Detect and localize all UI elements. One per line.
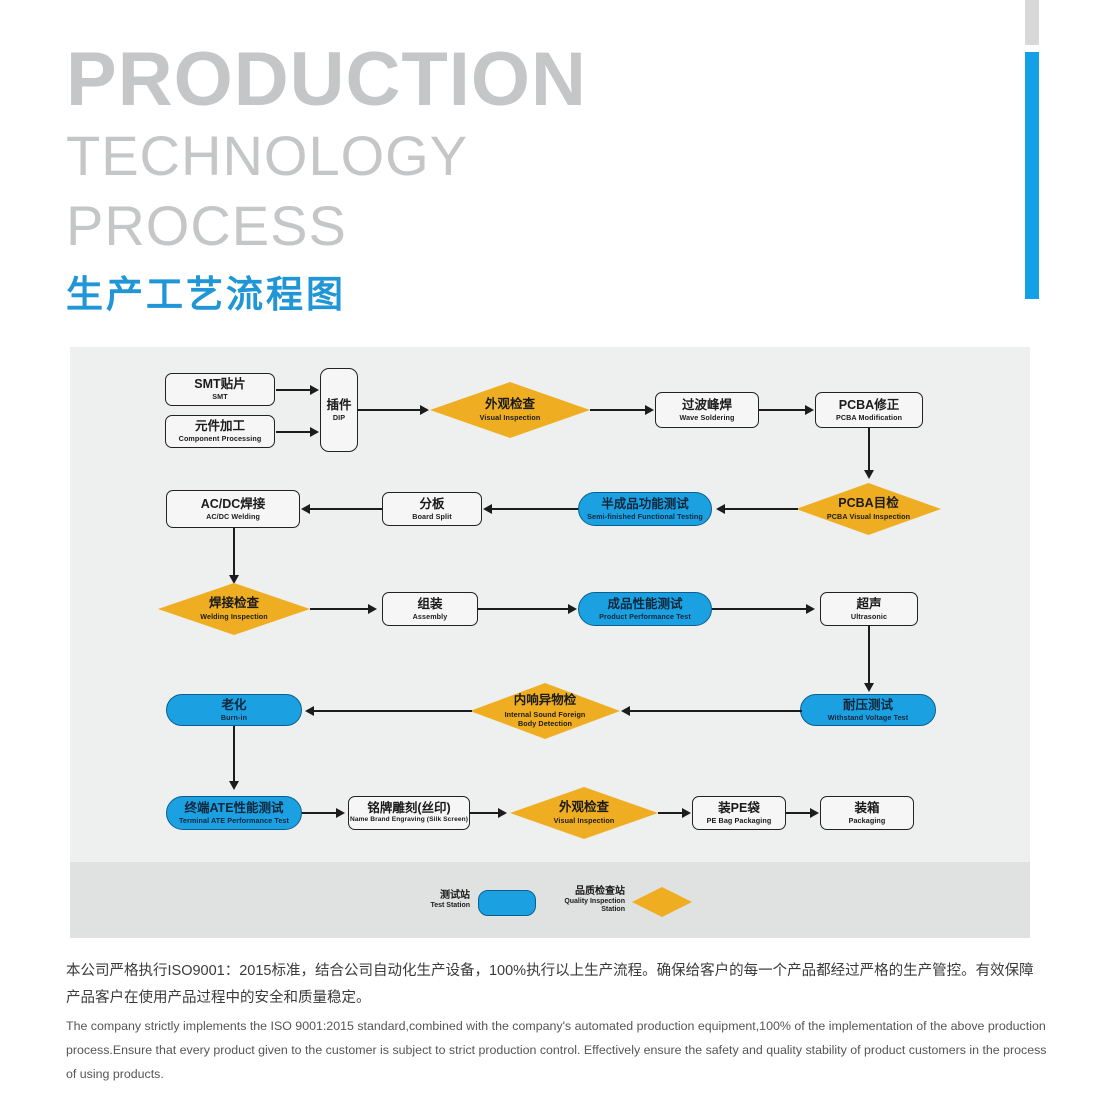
legend-label-en2: Station <box>525 906 625 914</box>
flow-node-product-performance-test[interactable]: 成品性能测试 Product Performance Test <box>578 592 712 626</box>
arrowhead <box>716 504 725 514</box>
arrowhead <box>310 427 319 437</box>
node-label-cn: 插件 <box>326 399 351 412</box>
legend-label-en: Test Station <box>395 902 470 910</box>
accent-bar-gray <box>1025 0 1039 45</box>
node-label-cn: 元件加工 <box>195 420 245 433</box>
node-label-en: Burn-in <box>221 714 247 722</box>
node-label-cn: 外观检查 <box>485 398 535 411</box>
flow-node-smt[interactable]: SMT贴片 SMT <box>165 373 275 406</box>
arrowhead <box>645 405 654 415</box>
arrowhead <box>420 405 429 415</box>
title-technology: TECHNOLOGY <box>66 128 468 184</box>
arrowhead <box>483 504 492 514</box>
node-label-en: Terminal ATE Performance Test <box>179 817 289 825</box>
node-label-cn: 分板 <box>419 498 444 511</box>
legend-label-quality-inspection-station: 品质检查站 Quality Inspection Station <box>525 886 625 914</box>
node-label-cn: AC/DC焊接 <box>201 498 266 511</box>
connector-pcbamod-pcbavis <box>868 428 870 473</box>
arrowhead <box>806 604 815 614</box>
arrowhead <box>864 683 874 692</box>
arrowhead <box>229 575 239 584</box>
connector-ultrasonic-withstand <box>868 626 870 686</box>
page-header: PRODUCTION TECHNOLOGY PROCESS 生产工艺流程图 <box>0 0 1100 340</box>
node-label-en2: Body Detection <box>518 719 572 728</box>
node-label-en: Visual Inspection <box>554 816 615 825</box>
node-label-cn: 终端ATE性能测试 <box>184 802 283 815</box>
node-label-cn: 焊接检查 <box>209 597 259 610</box>
arrowhead <box>805 405 814 415</box>
flow-node-assembly[interactable]: 组装 Assembly <box>382 592 478 626</box>
arrowhead <box>682 808 691 818</box>
node-label-en: Wave Soldering <box>679 414 734 422</box>
node-label-cn: 耐压测试 <box>843 699 893 712</box>
connector-visual1-wave <box>590 409 650 411</box>
arrowhead <box>498 808 507 818</box>
node-label-en: Product Performance Test <box>599 613 691 621</box>
flow-node-board-split[interactable]: 分板 Board Split <box>382 492 482 526</box>
legend-label-en1: Quality Inspection <box>525 898 625 906</box>
flow-node-withstand-voltage-test[interactable]: 耐压测试 Withstand Voltage Test <box>800 694 936 726</box>
node-label-en: Assembly <box>413 613 448 621</box>
node-label-en: Name Brand Engraving (Silk Screen) <box>350 817 468 824</box>
connector-boardsplit-acdc <box>308 508 382 510</box>
node-label-en: Internal Sound Foreign <box>505 710 586 719</box>
node-label-en: PE Bag Packaging <box>707 817 772 825</box>
flow-node-terminal-ate-performance-test[interactable]: 终端ATE性能测试 Terminal ATE Performance Test <box>166 796 302 830</box>
node-label-en: DIP <box>333 414 345 422</box>
flow-node-dip[interactable]: 插件 DIP <box>320 368 358 452</box>
flow-node-component-processing[interactable]: 元件加工 Component Processing <box>165 415 275 448</box>
flow-node-wave-soldering[interactable]: 过波峰焊 Wave Soldering <box>655 392 759 428</box>
legend-label-cn: 品质检查站 <box>525 886 625 898</box>
node-label-cn: 成品性能测试 <box>607 598 682 611</box>
node-label-en: Visual Inspection <box>480 413 541 422</box>
legend-label-test-station: 测试站 Test Station <box>395 890 470 910</box>
arrowhead <box>301 504 310 514</box>
connector-weldinsp-assembly <box>310 608 372 610</box>
flow-node-semi-finished-functional-testing[interactable]: 半成品功能测试 Semi-finished Functional Testing <box>578 492 712 526</box>
node-label-en: Semi-finished Functional Testing <box>587 513 703 521</box>
legend-label-cn: 测试站 <box>395 890 470 902</box>
node-label-cn: 老化 <box>221 699 246 712</box>
node-label-cn: 装PE袋 <box>718 802 760 815</box>
node-label-cn: 半成品功能测试 <box>601 498 689 511</box>
node-label-en: PCBA Modification <box>836 414 902 422</box>
node-label-cn: PCBA目检 <box>838 497 898 510</box>
arrowhead <box>336 808 345 818</box>
node-label-en: Component Processing <box>179 435 262 443</box>
node-label-en: Withstand Voltage Test <box>828 714 909 722</box>
connector-pcbavis-semifin <box>723 508 798 510</box>
connector-semifin-boardsplit <box>490 508 578 510</box>
connector-ate-engrave <box>302 812 338 814</box>
flow-node-packaging[interactable]: 装箱 Packaging <box>820 796 914 830</box>
node-label-cn: SMT贴片 <box>194 378 245 391</box>
arrowhead <box>305 706 314 716</box>
arrowhead <box>368 604 377 614</box>
connector-dip-visual1 <box>358 409 425 411</box>
node-label-cn: 装箱 <box>854 802 879 815</box>
footer-text-english: The company strictly implements the ISO … <box>66 1014 1051 1087</box>
connector-assembly-prodperf <box>478 608 572 610</box>
node-label-cn: 内响异物检 <box>514 694 577 707</box>
node-label-en: AC/DC Welding <box>206 513 260 521</box>
arrowhead <box>310 385 319 395</box>
title-chinese: 生产工艺流程图 <box>66 276 346 313</box>
footer-text-chinese: 本公司严格执行ISO9001：2015标准，结合公司自动化生产设备，100%执行… <box>66 958 1046 1012</box>
node-label-cn: 组装 <box>417 598 442 611</box>
flow-node-pcba-modification[interactable]: PCBA修正 PCBA Modification <box>815 392 923 428</box>
node-label-en: Packaging <box>849 817 886 825</box>
node-label-cn: 铭牌雕刻(丝印) <box>367 802 450 815</box>
connector-component-dip <box>276 431 312 433</box>
flow-node-name-brand-engraving[interactable]: 铭牌雕刻(丝印) Name Brand Engraving (Silk Scre… <box>348 796 470 830</box>
flow-node-burn-in[interactable]: 老化 Burn-in <box>166 694 302 726</box>
flow-node-pe-bag-packaging[interactable]: 装PE袋 PE Bag Packaging <box>692 796 786 830</box>
arrowhead <box>229 781 239 790</box>
arrowhead <box>568 604 577 614</box>
title-production: PRODUCTION <box>66 42 587 118</box>
connector-wave-pcbamod <box>759 409 809 411</box>
connector-foreign-burnin <box>312 710 472 712</box>
node-label-en: Welding Inspection <box>200 612 268 621</box>
node-label-cn: 外观检查 <box>559 801 609 814</box>
node-label-en: Ultrasonic <box>851 613 887 621</box>
connector-prodperf-ultrasonic <box>712 608 810 610</box>
node-label-en: Board Split <box>412 513 451 521</box>
arrowhead <box>864 470 874 479</box>
node-label-cn: PCBA修正 <box>839 399 899 412</box>
connector-withstand-foreign <box>628 710 802 712</box>
node-label-en: SMT <box>212 393 227 401</box>
flow-node-ultrasonic[interactable]: 超声 Ultrasonic <box>820 592 918 626</box>
arrowhead <box>810 808 819 818</box>
node-label-cn: 过波峰焊 <box>682 399 732 412</box>
node-label-en: PCBA Visual Inspection <box>827 512 910 521</box>
connector-smt-dip <box>276 389 312 391</box>
node-label-cn: 超声 <box>856 598 881 611</box>
flow-node-acdc-welding[interactable]: AC/DC焊接 AC/DC Welding <box>166 490 300 528</box>
title-process: PROCESS <box>66 198 347 254</box>
connector-burnin-ate <box>233 726 235 784</box>
connector-acdc-weldinsp <box>233 528 235 578</box>
accent-bar-blue <box>1025 52 1039 299</box>
arrowhead <box>621 706 630 716</box>
